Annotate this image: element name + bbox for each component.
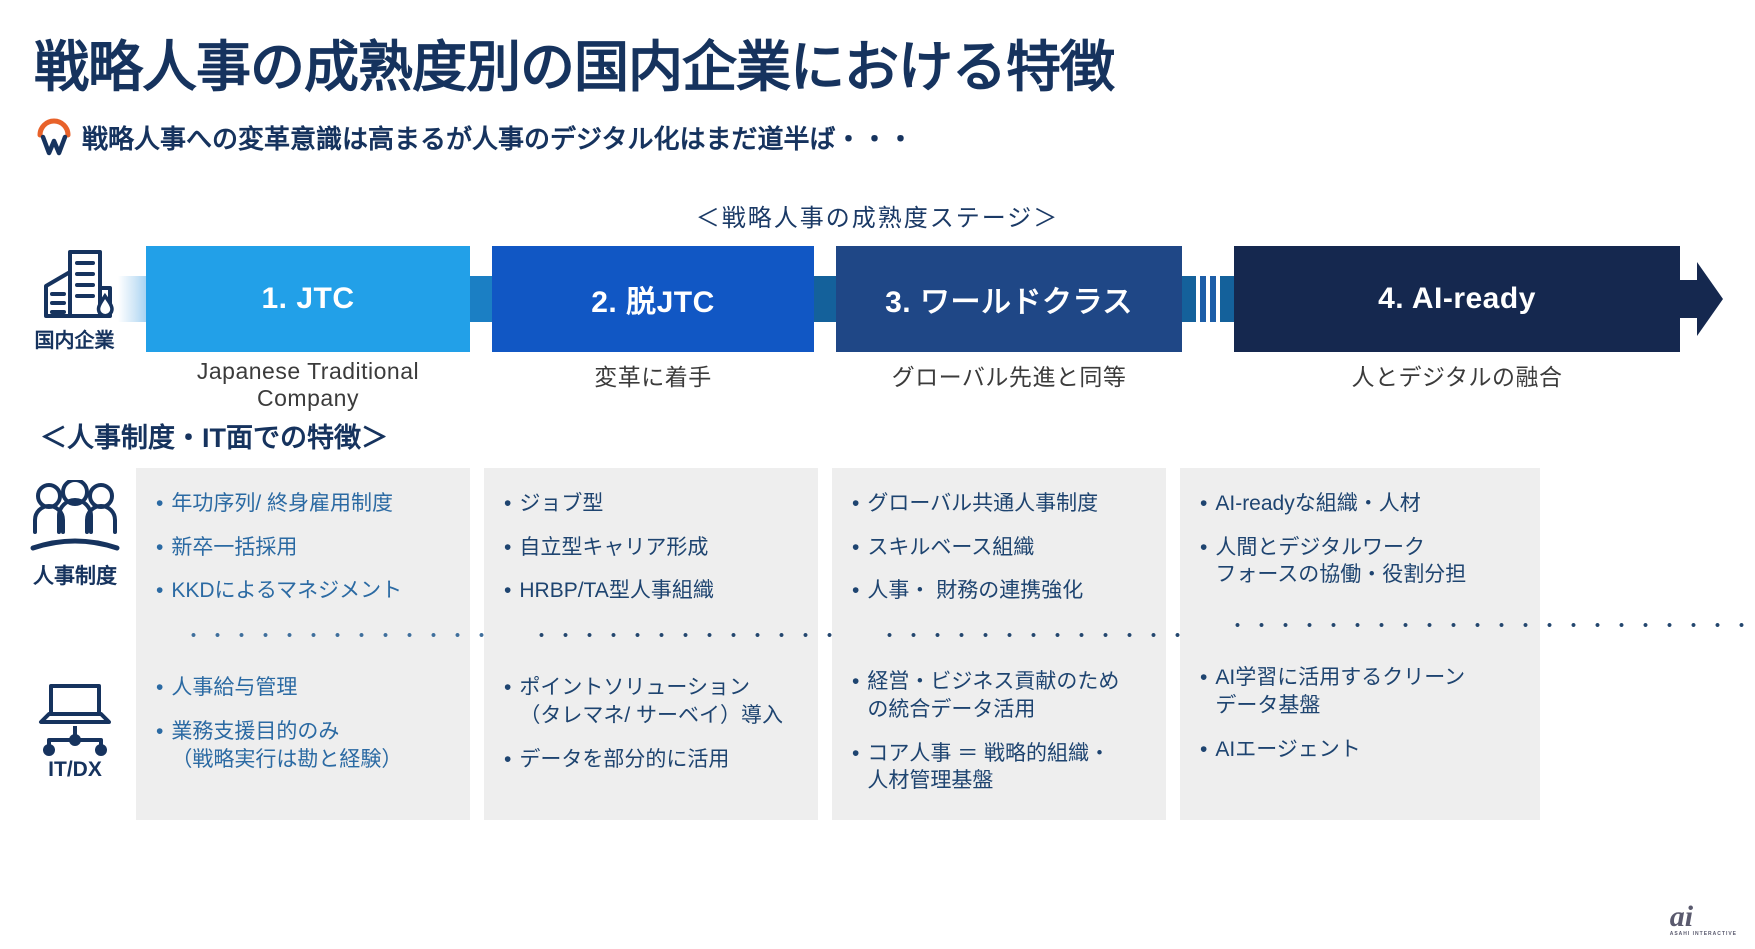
stage-connector-1-2 (470, 276, 492, 322)
bullet-dot-icon: • (156, 718, 163, 773)
maturity-stage-band: 1. JTC 2. 脱JTC 3. ワールドクラス 4. AI-ready (118, 246, 1738, 352)
row-label-it-dx: IT/DX (20, 758, 130, 782)
page-subtitle: 戦略人事への変革意識は高まるが人事のデジタル化はまだ道半ば・・・ (82, 119, 913, 156)
stage-sub-4: 人とデジタルの融合 (1234, 358, 1680, 392)
ellipsis-divider: ・・・・・・・・・・・・・・・・・・・・・・・・ (184, 621, 454, 648)
domestic-company-axis: 国内企業 (22, 246, 127, 353)
list-item: • データを部分的に活用 (504, 746, 802, 774)
laptop-network-icon (20, 678, 130, 756)
list-item: • 人事給与管理 (156, 674, 454, 702)
bullet-dot-icon: • (504, 490, 511, 518)
stage-box-1[interactable]: 1. JTC (146, 246, 470, 352)
bullet-dot-icon: • (156, 534, 163, 562)
bullet-dot-icon: • (1200, 664, 1207, 719)
row-icon-it-dx: IT/DX (20, 678, 130, 782)
list-item: • 業務支援目的のみ （戦略実行は勘と経験） (156, 718, 454, 773)
stage-sub-2: 変革に着手 (492, 358, 814, 392)
feature-panel-3: • グローバル共通人事制度 • スキルベース組織 • 人事・ 財務の連携強化 ・… (832, 468, 1166, 820)
list-item: • AI学習に活用するクリーン データ基盤 (1200, 664, 1524, 719)
stage-tick-1 (1200, 276, 1206, 322)
bullet-dot-icon: • (1200, 490, 1207, 518)
stage-connector-2-3 (814, 276, 836, 322)
row-icon-hr-system: 人事制度 (20, 480, 130, 590)
list-item: • 年功序列/ 終身雇用制度 (156, 490, 454, 518)
ellipsis-divider: ・・・・・・・・・・・・・・・・・・・・・・・・ (532, 621, 802, 648)
bullet-dot-icon: • (852, 577, 859, 605)
w-arch-mark-icon (36, 118, 72, 156)
list-item: • スキルベース組織 (852, 534, 1150, 562)
list-item: • コア人事 ＝ 戦略的組織・ 人材管理基盤 (852, 740, 1150, 795)
list-item: • ポイントソリューション （タレマネ/ サーベイ）導入 (504, 674, 802, 729)
stage-box-4[interactable]: 4. AI-ready (1234, 246, 1680, 352)
stage-section-caption: ＜戦略人事の成熟度ステージ＞ (0, 198, 1755, 233)
bullet-dot-icon: • (852, 740, 859, 795)
band-tail (118, 276, 146, 322)
bullet-dot-icon: • (1200, 736, 1207, 764)
list-item: • 人間とデジタルワーク フォースの協働・役割分担 (1200, 534, 1524, 589)
stage-connector-3-4-b (1220, 276, 1234, 322)
list-item: • ジョブ型 (504, 490, 802, 518)
list-item: • 自立型キャリア形成 (504, 534, 802, 562)
bullet-dot-icon: • (852, 490, 859, 518)
bullet-dot-icon: • (156, 674, 163, 702)
footer-logo-subtext: ASAHI INTERACTIVE (1670, 932, 1737, 937)
stage-label-2: 2. 脱JTC (591, 277, 715, 321)
list-item: • グローバル共通人事制度 (852, 490, 1150, 518)
slide-root: 戦略人事の成熟度別の国内企業における特徴 戦略人事への変革意識は高まるが人事のデ… (0, 0, 1755, 949)
footer-logo-text: ai (1670, 900, 1693, 933)
page-title: 戦略人事の成熟度別の国内企業における特徴 (34, 22, 1114, 102)
stage-sub-3: グローバル先進と同等 (836, 358, 1182, 392)
office-building-icon (36, 246, 114, 322)
bullet-dot-icon: • (504, 577, 511, 605)
bullet-dot-icon: • (504, 674, 511, 729)
bullet-dot-icon: • (504, 534, 511, 562)
bullet-dot-icon: • (156, 577, 163, 605)
list-item: • AIエージェント (1200, 736, 1524, 764)
feature-panel-4: • AI-readyな組織・人材 • 人間とデジタルワーク フォースの協働・役割… (1180, 468, 1540, 820)
list-item: • AI-readyな組織・人材 (1200, 490, 1524, 518)
list-item: • KKDによるマネジメント (156, 577, 454, 605)
list-item: • 新卒一括採用 (156, 534, 454, 562)
row-label-hr-system: 人事制度 (20, 560, 130, 590)
ellipsis-divider: ・・・・・・・・・・・・・・・・・・・・・・・・ (1228, 611, 1524, 638)
stage-sub-1: Japanese Traditional Company (146, 358, 470, 412)
asahi-interactive-logo: ai ASAHI INTERACTIVE (1670, 902, 1737, 937)
bullet-dot-icon: • (852, 534, 859, 562)
list-item: • HRBP/TA型人事組織 (504, 577, 802, 605)
stage-box-2[interactable]: 2. 脱JTC (492, 246, 814, 352)
axis-label: 国内企業 (22, 324, 127, 353)
stage-tick-2 (1210, 276, 1216, 322)
people-group-icon (20, 480, 130, 558)
stage-label-1: 1. JTC (261, 282, 354, 316)
feature-panel-2: • ジョブ型 • 自立型キャリア形成 • HRBP/TA型人事組織 ・・・・・・… (484, 468, 818, 820)
stage-connector-3-4-a (1182, 276, 1196, 322)
bullet-dot-icon: • (1200, 534, 1207, 589)
stage-label-4: 4. AI-ready (1378, 282, 1536, 316)
bullet-dot-icon: • (852, 668, 859, 723)
bullet-dot-icon: • (504, 746, 511, 774)
features-section-heading: ＜人事制度・IT面での特徴＞ (40, 416, 388, 455)
band-arrow-head-icon (1675, 262, 1723, 336)
list-item: • 経営・ビジネス貢献のため の統合データ活用 (852, 668, 1150, 723)
stage-box-3[interactable]: 3. ワールドクラス (836, 246, 1182, 352)
feature-panel-1: • 年功序列/ 終身雇用制度 • 新卒一括採用 • KKDによるマネジメント ・… (136, 468, 470, 820)
ellipsis-divider: ・・・・・・・・・・・・・・・・・・・・・・・・ (880, 621, 1150, 648)
subtitle-row: 戦略人事への変革意識は高まるが人事のデジタル化はまだ道半ば・・・ (36, 118, 913, 156)
bullet-dot-icon: • (156, 490, 163, 518)
list-item: • 人事・ 財務の連携強化 (852, 577, 1150, 605)
stage-label-3: 3. ワールドクラス (885, 277, 1133, 321)
